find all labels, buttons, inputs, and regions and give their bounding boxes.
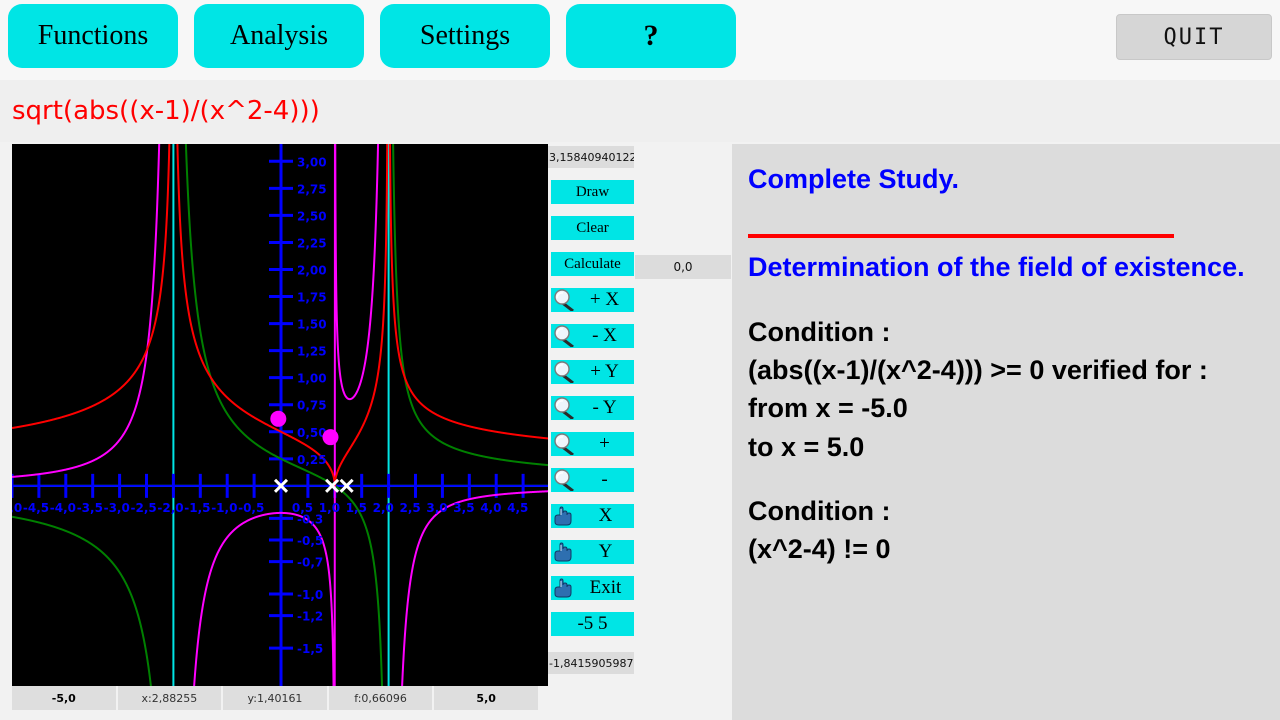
svg-text:0,50: 0,50 xyxy=(297,426,327,440)
exit-pick-button[interactable]: Exit xyxy=(551,576,634,600)
svg-text:-1,2: -1,2 xyxy=(297,610,323,624)
condition-1-label: Condition : xyxy=(748,313,1264,351)
menu-item-analysis[interactable]: Analysis xyxy=(194,4,364,68)
svg-text:1,25: 1,25 xyxy=(297,345,327,359)
x-range-label: -5 5 xyxy=(551,613,634,635)
panel-spacer-2 xyxy=(748,466,1264,492)
clear-button[interactable]: Clear xyxy=(551,216,634,240)
zoom-x-in-button[interactable]: + X xyxy=(551,288,634,312)
hand-pointer-icon xyxy=(553,506,577,526)
menu-item-functions[interactable]: Functions xyxy=(8,4,178,68)
magnifier-icon xyxy=(553,397,575,419)
condition-2-text: (x^2-4) != 0 xyxy=(748,530,1264,568)
x-range-button[interactable]: -5 5 xyxy=(551,612,634,636)
svg-text:1,00: 1,00 xyxy=(297,372,327,386)
exit-pick-label: Exit xyxy=(577,577,634,599)
pick-x-button[interactable]: X xyxy=(551,504,634,528)
draw-button[interactable]: Draw xyxy=(551,180,634,204)
formula-bar[interactable]: sqrt(abs((x-1)/(x^2-4))) xyxy=(0,80,1280,142)
status-cursor-f: f:0,66096 xyxy=(329,686,433,710)
svg-text:3,00: 3,00 xyxy=(297,155,327,169)
coordinate-field[interactable]: 0,0 xyxy=(635,255,731,279)
magnifier-icon xyxy=(553,325,575,347)
clear-button-label: Clear xyxy=(551,220,634,237)
svg-text:-1,0: -1,0 xyxy=(297,588,323,602)
menu-item-help[interactable]: ? xyxy=(566,4,736,68)
panel-spacer-1 xyxy=(748,287,1264,313)
svg-text:2,5: 2,5 xyxy=(400,501,421,515)
pick-x-label: X xyxy=(577,505,634,527)
zoom-x-out-label: - X xyxy=(575,325,634,347)
svg-text:4,0: 4,0 xyxy=(480,501,501,515)
svg-text:1,75: 1,75 xyxy=(297,291,327,305)
svg-text:-4,0: -4,0 xyxy=(50,501,76,515)
zoom-y-out-label: - Y xyxy=(575,397,634,419)
panel-title: Complete Study. xyxy=(748,160,1264,198)
status-cursor-y: y:1,40161 xyxy=(223,686,327,710)
svg-text:-2,0: -2,0 xyxy=(157,501,183,515)
svg-text:-1,5: -1,5 xyxy=(297,642,323,656)
control-panel: 3,158409401222 -1,84159059877 0,0 Draw C… xyxy=(548,142,730,720)
condition-2-label: Condition : xyxy=(748,492,1264,530)
zoom-out-button[interactable]: - xyxy=(551,468,634,492)
svg-text:-3,0: -3,0 xyxy=(104,501,130,515)
zoom-y-out-button[interactable]: - Y xyxy=(551,396,634,420)
hand-pointer-icon xyxy=(553,578,577,598)
plot-area[interactable]: -5,0-4,5-4,0-3,5-3,0-2,5-2,0-1,5-1,0-0,5… xyxy=(12,144,550,686)
svg-text:-0,5: -0,5 xyxy=(238,501,264,515)
svg-text:-0,7: -0,7 xyxy=(297,556,323,570)
svg-text:-2,5: -2,5 xyxy=(131,501,157,515)
svg-text:-5,0: -5,0 xyxy=(12,501,22,515)
zoom-in-button[interactable]: + xyxy=(551,432,634,456)
zoom-y-in-label: + Y xyxy=(575,361,634,383)
condition-1-text: (abs((x-1)/(x^2-4))) >= 0 verified for :… xyxy=(748,351,1264,466)
menu-bar: Functions Analysis Settings ? QUIT xyxy=(0,0,1280,80)
status-bar: -5,0 x:2,88255 y:1,40161 f:0,66096 5,0 xyxy=(0,686,550,710)
draw-button-label: Draw xyxy=(551,184,634,201)
quit-button[interactable]: QUIT xyxy=(1116,14,1272,60)
zoom-out-label: - xyxy=(575,469,634,491)
svg-text:-4,5: -4,5 xyxy=(23,501,49,515)
svg-text:-1,5: -1,5 xyxy=(184,501,210,515)
status-cursor-x: x:2,88255 xyxy=(118,686,222,710)
svg-text:2,50: 2,50 xyxy=(297,209,327,223)
svg-text:-0,5: -0,5 xyxy=(297,534,323,548)
y-min-field[interactable]: -1,84159059877 xyxy=(548,652,634,674)
status-x-max: 5,0 xyxy=(434,686,538,710)
svg-text:1,5: 1,5 xyxy=(346,501,367,515)
zoom-x-in-label: + X xyxy=(575,289,634,311)
calculate-button-label: Calculate xyxy=(551,256,634,273)
menu-item-settings[interactable]: Settings xyxy=(380,4,550,68)
hand-pointer-icon xyxy=(553,542,577,562)
svg-text:2,25: 2,25 xyxy=(297,236,327,250)
svg-text:-0,3: -0,3 xyxy=(297,512,323,526)
magnifier-icon xyxy=(553,289,575,311)
calculate-button[interactable]: Calculate xyxy=(551,252,634,276)
graph-canvas[interactable]: -5,0-4,5-4,0-3,5-3,0-2,5-2,0-1,5-1,0-0,5… xyxy=(12,144,550,686)
svg-text:2,0: 2,0 xyxy=(373,501,394,515)
magnifier-icon xyxy=(553,469,575,491)
zoom-in-label: + xyxy=(575,433,634,455)
y-max-field[interactable]: 3,158409401222 xyxy=(548,146,634,168)
status-x-min: -5,0 xyxy=(12,686,116,710)
magnifier-icon xyxy=(553,433,575,455)
svg-text:2,75: 2,75 xyxy=(297,182,327,196)
result-panel: Complete Study. Determination of the fie… xyxy=(732,144,1280,720)
svg-text:4,5: 4,5 xyxy=(507,501,528,515)
svg-text:3,0: 3,0 xyxy=(426,501,447,515)
magnifier-icon xyxy=(553,361,575,383)
panel-section-title: Determination of the field of existence. xyxy=(748,248,1264,286)
zoom-y-in-button[interactable]: + Y xyxy=(551,360,634,384)
formula-expression[interactable]: sqrt(abs((x-1)/(x^2-4))) xyxy=(0,96,320,126)
svg-text:0,25: 0,25 xyxy=(297,453,327,467)
pick-y-label: Y xyxy=(577,541,634,563)
svg-text:2,00: 2,00 xyxy=(297,263,327,277)
svg-text:3,5: 3,5 xyxy=(453,501,474,515)
panel-divider xyxy=(748,234,1174,238)
svg-text:1,50: 1,50 xyxy=(297,318,327,332)
pick-y-button[interactable]: Y xyxy=(551,540,634,564)
svg-text:-3,5: -3,5 xyxy=(77,501,103,515)
svg-text:0,75: 0,75 xyxy=(297,399,327,413)
zoom-x-out-button[interactable]: - X xyxy=(551,324,634,348)
svg-text:-1,0: -1,0 xyxy=(211,501,237,515)
